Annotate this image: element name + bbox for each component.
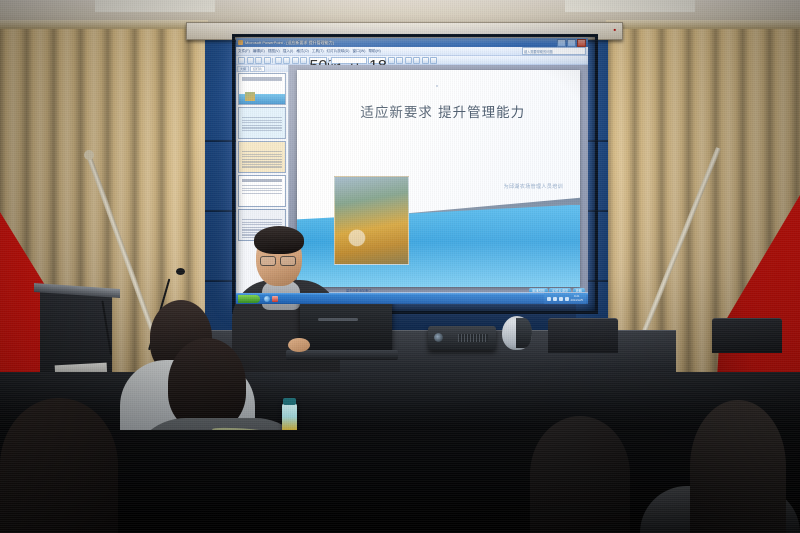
audience-member [530, 416, 630, 533]
system-tray[interactable]: 9:21 2014/12/5 [544, 293, 586, 304]
photo-scene: ■ Microsoft PowerPoint - [适应新要求 提升管理能力] … [0, 0, 800, 533]
ceiling-light-icon [95, 0, 215, 12]
presenter-hair [254, 226, 304, 254]
flagpole-knob-icon [84, 150, 94, 160]
powerpoint-icon[interactable] [272, 296, 278, 302]
glasses-icon [280, 256, 296, 266]
bottle-cap-icon [283, 398, 296, 405]
glasses-icon [260, 256, 276, 266]
network-icon[interactable] [547, 297, 551, 301]
clock-date: 2014/12/5 [571, 298, 583, 302]
audience-member [0, 398, 118, 533]
audience-member [690, 400, 786, 533]
laptop-brand-strip [318, 318, 358, 321]
microphone-head-icon [176, 268, 185, 275]
curtain-rod-left [0, 20, 208, 29]
start-button[interactable] [238, 295, 260, 303]
projector-lens-icon [434, 333, 443, 342]
laptop-screen [300, 296, 392, 352]
antivirus-icon[interactable] [565, 297, 569, 301]
curtain-rod-right [606, 20, 800, 29]
projector-device [428, 326, 496, 350]
conference-chair [548, 318, 618, 353]
brand-mark-icon: ■ [614, 27, 616, 32]
ceiling-light-icon [565, 0, 695, 12]
conference-chair [712, 318, 782, 353]
audience-member [168, 338, 246, 430]
equipment-case-shadow [516, 318, 532, 348]
quick-launch-bar[interactable] [264, 296, 278, 302]
volume-icon[interactable] [553, 297, 557, 301]
projector-vents [458, 334, 488, 342]
ie-icon[interactable] [264, 296, 270, 302]
taskbar-clock[interactable]: 9:21 2014/12/5 [571, 295, 583, 301]
presenter-hand [288, 338, 310, 352]
windows-taskbar[interactable]: 9:21 2014/12/5 [236, 293, 588, 304]
input-method-icon[interactable] [559, 297, 563, 301]
